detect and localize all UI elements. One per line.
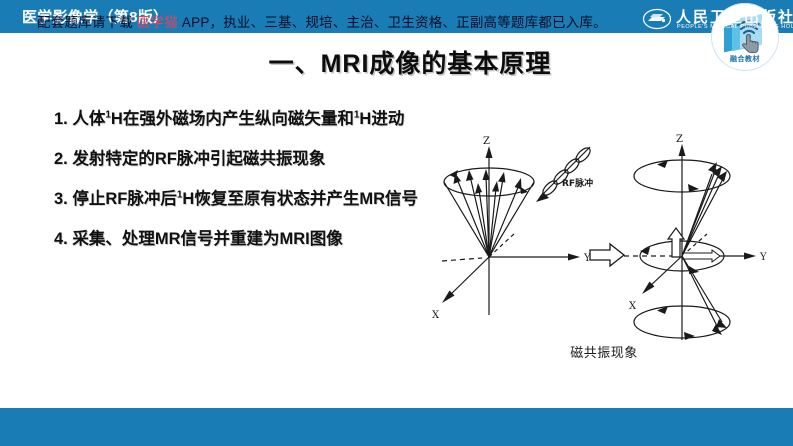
axis-label-x: X — [629, 301, 637, 312]
publisher-mark-icon — [642, 8, 672, 30]
footer-app-name: 医学猫 — [137, 15, 178, 30]
bullet-text: 发射特定的RF脉冲引起磁共振现象 — [72, 150, 325, 168]
isotope-superscript: 1 — [177, 190, 183, 201]
axis-label-z: Z — [676, 134, 683, 145]
publisher-logo: 人民卫生出版社 PEOPLE'S MEDICAL PUBLISHING HOUS… — [642, 6, 784, 34]
precession-cone-left: Z Y X — [432, 136, 591, 321]
isotope-superscript: 1 — [354, 110, 360, 121]
bullet-number: 2. — [54, 150, 68, 168]
magnetic-resonance-diagram: Z Y X RF脉冲 — [424, 122, 784, 362]
bullet-number: 1. — [54, 110, 68, 128]
bullet-text: 人体1H在强外磁场内产生纵向磁矢量和1H进动 — [72, 110, 404, 128]
transition-arrow — [590, 244, 624, 266]
axis-label-y: Y — [759, 252, 767, 263]
precession-double-cone-right: Z Y X — [624, 134, 767, 340]
footer-promo-text: 配套题库请下载 医学猫 APP，执业、三基、规培、主治、卫生资格、正副高等题库都… — [37, 11, 607, 31]
footer-bar — [0, 408, 793, 446]
bullet-text: 采集、处理MR信号并重建为MRI图像 — [72, 230, 342, 248]
axis-label-z: Z — [483, 136, 490, 147]
list-item: 3. 停止RF脉冲后1H恢复至原有状态并产生MR信号 — [54, 184, 424, 215]
bullet-number: 4. — [54, 230, 68, 248]
hand-pointer-icon — [743, 34, 759, 52]
axis-label-x: X — [432, 310, 440, 321]
badge-label: 融合教材 — [711, 54, 779, 64]
slide-root: 医学影像学（第8版） 融合教材 一、MRI成像的基本原理 1. 人体1H在强外磁… — [0, 0, 793, 446]
bullet-number: 3. — [54, 190, 68, 208]
bullet-text: 停止RF脉冲后1H恢复至原有状态并产生MR信号 — [72, 190, 418, 208]
rf-pulse-wave: RF脉冲 — [536, 145, 593, 202]
page-title: 一、MRI成像的基本原理 — [180, 44, 640, 80]
bullet-list: 1. 人体1H在强外磁场内产生纵向磁矢量和1H进动 2. 发射特定的RF脉冲引起… — [54, 104, 424, 264]
figure-caption: 磁共振现象 — [424, 342, 784, 361]
rf-pulse-label: RF脉冲 — [562, 177, 593, 189]
isotope-superscript: 1 — [105, 110, 111, 121]
list-item: 4. 采集、处理MR信号并重建为MRI图像 — [54, 224, 424, 255]
footer-text-after: APP，执业、三基、规培、主治、卫生资格、正副高等题库都已入库。 — [178, 15, 607, 30]
list-item: 1. 人体1H在强外磁场内产生纵向磁矢量和1H进动 — [54, 104, 424, 135]
publisher-name-en: PEOPLE'S MEDICAL PUBLISHING HOUSE — [677, 24, 793, 30]
footer-text-before: 配套题库请下载 — [37, 15, 137, 30]
list-item: 2. 发射特定的RF脉冲引起磁共振现象 — [54, 144, 424, 175]
